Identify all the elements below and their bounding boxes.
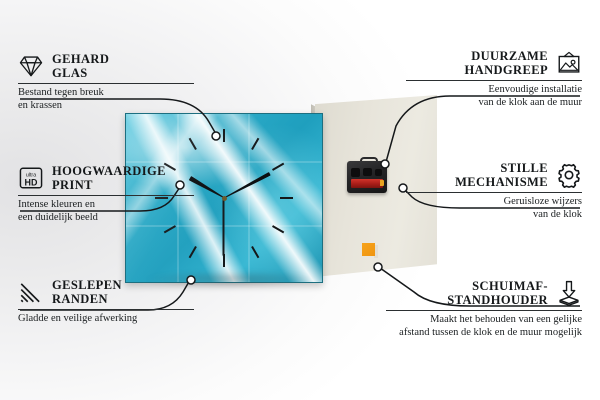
foam-pad-face bbox=[362, 243, 375, 256]
picture-frame-icon bbox=[556, 50, 582, 76]
feature-title: HOOGWAARDIGE PRINT bbox=[52, 164, 166, 192]
feature-divider bbox=[18, 83, 194, 84]
battery-terminal bbox=[380, 180, 384, 186]
bevelled-edges-icon bbox=[18, 279, 44, 305]
glass-seam bbox=[248, 114, 250, 282]
feature-duurzame-handgreep[interactable]: DUURZAME HANDGREEP Eenvoudige installati… bbox=[406, 49, 582, 109]
movement-detail bbox=[351, 168, 360, 177]
feature-desc-line1: Bestand tegen breuk bbox=[18, 87, 194, 100]
feature-divider bbox=[386, 310, 582, 311]
feature-title-line2: RANDEN bbox=[52, 292, 122, 306]
feature-title: DUURZAME HANDGREEP bbox=[465, 49, 548, 77]
feature-stille-mechanisme[interactable]: STILLE MECHANISME Geruisloze wijzers van… bbox=[406, 161, 582, 221]
feature-description: Eenvoudige installatie van de klok aan d… bbox=[406, 84, 582, 109]
feature-title: STILLE MECHANISME bbox=[455, 161, 548, 189]
gear-icon bbox=[556, 162, 582, 188]
second-hand bbox=[223, 198, 225, 256]
foam-spacer-pad bbox=[362, 243, 377, 258]
hd-label: HD bbox=[25, 177, 38, 187]
feature-heading: SCHUIMAF- STANDHOUDER bbox=[386, 279, 582, 307]
feature-description: Bestand tegen breuk en krassen bbox=[18, 87, 194, 112]
feature-heading: DUURZAME HANDGREEP bbox=[406, 49, 582, 77]
hour-tick bbox=[189, 138, 197, 150]
ultra-hd-badge-icon: ultra HD bbox=[18, 165, 44, 191]
feature-desc-line2: van de klok bbox=[406, 209, 582, 222]
feature-title-line1: GESLEPEN bbox=[52, 278, 122, 292]
feature-heading: GESLEPEN RANDEN bbox=[18, 278, 194, 306]
infographic-stage: GEHARD GLAS Bestand tegen breuk en krass… bbox=[0, 0, 600, 400]
feature-title-line2: PRINT bbox=[52, 178, 166, 192]
feature-hoogwaardige-print[interactable]: ultra HD HOOGWAARDIGE PRINT Intense kleu… bbox=[18, 164, 194, 224]
movement-detail bbox=[363, 168, 372, 176]
feature-desc-line1: Maakt het behouden van een gelijke bbox=[386, 314, 582, 327]
feature-title-line1: HOOGWAARDIGE bbox=[52, 164, 166, 178]
diamond-icon bbox=[18, 53, 44, 79]
feature-heading: STILLE MECHANISME bbox=[406, 161, 582, 189]
hour-tick bbox=[280, 197, 293, 199]
battery bbox=[351, 179, 383, 188]
feature-gehard-glas[interactable]: GEHARD GLAS Bestand tegen breuk en krass… bbox=[18, 52, 194, 112]
hour-tick bbox=[251, 138, 259, 150]
feature-divider bbox=[406, 192, 582, 193]
feature-desc-line2: van de klok aan de muur bbox=[406, 97, 582, 110]
hour-tick bbox=[251, 246, 259, 258]
feature-title-line1: STILLE bbox=[455, 161, 548, 175]
feature-desc-line1: Intense kleuren en bbox=[18, 199, 194, 212]
feature-title-line2: STANDHOUDER bbox=[447, 293, 548, 307]
hour-tick bbox=[223, 129, 225, 142]
hand-center-cap bbox=[222, 196, 227, 201]
feature-description: Geruisloze wijzers van de klok bbox=[406, 196, 582, 221]
feature-desc-line1: Gladde en veilige afwerking bbox=[18, 313, 194, 326]
feature-desc-line1: Geruisloze wijzers bbox=[406, 196, 582, 209]
feature-desc-line2: afstand tussen de klok en de muur mogeli… bbox=[386, 327, 582, 340]
feature-title: GESLEPEN RANDEN bbox=[52, 278, 122, 306]
movement-body bbox=[347, 161, 387, 193]
feature-heading: ultra HD HOOGWAARDIGE PRINT bbox=[18, 164, 194, 192]
feature-description: Gladde en veilige afwerking bbox=[18, 313, 194, 326]
feature-title-line1: SCHUIMAF- bbox=[447, 279, 548, 293]
feature-schuimaf-standhouder[interactable]: SCHUIMAF- STANDHOUDER Maakt het behouden… bbox=[386, 279, 582, 339]
feature-title-line2: MECHANISME bbox=[455, 175, 548, 189]
feature-title: SCHUIMAF- STANDHOUDER bbox=[447, 279, 548, 307]
foam-spacer-icon bbox=[556, 280, 582, 306]
feature-title-line2: GLAS bbox=[52, 66, 109, 80]
clock-movement bbox=[347, 157, 387, 193]
hour-tick bbox=[189, 246, 197, 258]
feature-description: Maakt het behouden van een gelijke afsta… bbox=[386, 314, 582, 339]
movement-detail bbox=[375, 169, 382, 176]
glass-seam bbox=[126, 161, 322, 163]
feature-divider bbox=[18, 195, 194, 196]
feature-geslepen-randen[interactable]: GESLEPEN RANDEN Gladde en veilige afwerk… bbox=[18, 278, 194, 326]
feature-desc-line1: Eenvoudige installatie bbox=[406, 84, 582, 97]
feature-description: Intense kleuren en een duidelijk beeld bbox=[18, 199, 194, 224]
feature-desc-line2: een duidelijk beeld bbox=[18, 212, 194, 225]
feature-title-line1: GEHARD bbox=[52, 52, 109, 66]
feature-title-line1: DUURZAME bbox=[465, 49, 548, 63]
feature-desc-line2: en krassen bbox=[18, 100, 194, 113]
feature-title-line2: HANDGREEP bbox=[465, 63, 548, 77]
feature-divider bbox=[406, 80, 582, 81]
feature-heading: GEHARD GLAS bbox=[18, 52, 194, 80]
feature-title: GEHARD GLAS bbox=[52, 52, 109, 80]
hour-tick bbox=[272, 163, 284, 171]
feature-divider bbox=[18, 309, 194, 310]
